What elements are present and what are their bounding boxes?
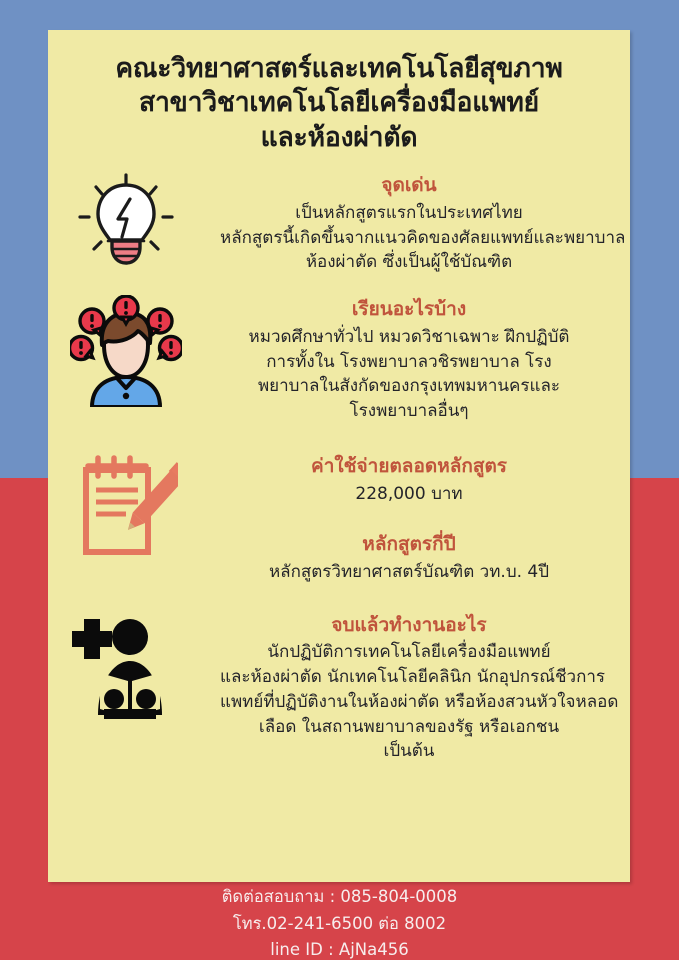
section-career-body: นักปฏิบัติการเทคโนโลยีเครื่องมือแพทย์ แล…	[220, 640, 598, 764]
section-study: เรียนอะไรบ้าง หมวดศึกษาทั่วไป หมวดวิชาเฉ…	[48, 295, 630, 424]
body-line: หลักสูตรวิทยาศาสตร์บัณฑิต วท.บ. 4ปี	[220, 560, 598, 585]
body-line: ห้องผ่าตัด ซึ่งเป็นผู้ใช้บัณฑิต	[220, 250, 598, 275]
body-line: นักปฏิบัติการเทคโนโลยีเครื่องมือแพทย์	[220, 640, 598, 665]
body-line: เลือด ในสถานพยาบาลของรัฐ หรือเอกชน	[220, 715, 598, 740]
info-card: คณะวิทยาศาสตร์และเทคโนโลยีสุขภาพ สาขาวิช…	[48, 30, 630, 882]
section-highlight-text: จุดเด่น เป็นหลักสูตรแรกในประเทศไทย หลักส…	[220, 171, 598, 275]
section-cost-text: ค่าใช้จ่ายตลอดหลักสูตร 228,000 บาท	[220, 452, 598, 506]
body-line: และห้องผ่าตัด นักเทคโนโลยีคลินิก นักอุปก…	[220, 665, 598, 690]
section-career-heading: จบแล้วทำงานอะไร	[220, 611, 598, 640]
section-years-text: หลักสูตรกี่ปี หลักสูตรวิทยาศาสตร์บัณฑิต …	[220, 530, 598, 584]
section-cost-heading: ค่าใช้จ่ายตลอดหลักสูตร	[220, 452, 598, 481]
section-career-text: จบแล้วทำงานอะไร นักปฏิบัติการเทคโนโลยีเค…	[220, 611, 598, 765]
body-line: การทั้งใน โรงพยาบาลวชิรพยาบาล โรง	[220, 350, 598, 375]
person-reading-medical-icon	[66, 611, 186, 723]
section-years-body: หลักสูตรวิทยาศาสตร์บัณฑิต วท.บ. 4ปี	[220, 560, 598, 585]
body-line: หมวดศึกษาทั่วไป หมวดวิชาเฉพาะ ฝึกปฏิบัติ	[220, 325, 598, 350]
contact-office-line: โทร.02-241-6500 ต่อ 8002	[0, 911, 679, 938]
body-line: หลักสูตรนี้เกิดขึ้นจากแนวคิดของศัลยแพทย์…	[220, 226, 598, 251]
page-title: คณะวิทยาศาสตร์และเทคโนโลยีสุขภาพ สาขาวิช…	[48, 30, 630, 159]
body-line: แพทย์ที่ปฏิบัติงานในห้องผ่าตัด หรือห้องส…	[220, 690, 598, 715]
section-highlight: จุดเด่น เป็นหลักสูตรแรกในประเทศไทย หลักส…	[48, 171, 630, 275]
body-line: โรงพยาบาลอื่นๆ	[220, 399, 598, 424]
body-line: พยาบาลในสังกัดของกรุงเทพมหานครและ	[220, 374, 598, 399]
section-cost-body: 228,000 บาท	[220, 482, 598, 507]
poster-root: คณะวิทยาศาสตร์และเทคโนโลยีสุขภาพ สาขาวิช…	[0, 0, 679, 960]
section-years: หลักสูตรกี่ปี หลักสูตรวิทยาศาสตร์บัณฑิต …	[48, 530, 630, 584]
title-line-3: และห้องผ่าตัด	[74, 121, 604, 155]
body-line: 228,000 บาท	[220, 482, 598, 507]
contact-footer: ติดต่อสอบถาม : 085-804-0008 โทร.02-241-6…	[0, 884, 679, 960]
section-study-text: เรียนอะไรบ้าง หมวดศึกษาทั่วไป หมวดวิชาเฉ…	[220, 295, 598, 424]
title-line-2: สาขาวิชาเทคโนโลยีเครื่องมือแพทย์	[74, 86, 604, 120]
section-study-body: หมวดศึกษาทั่วไป หมวดวิชาเฉพาะ ฝึกปฏิบัติ…	[220, 325, 598, 424]
person-questions-icon	[66, 295, 186, 407]
contact-line-id: line ID : AjNa456	[0, 937, 679, 960]
section-highlight-body: เป็นหลักสูตรแรกในประเทศไทย หลักสูตรนี้เก…	[220, 201, 598, 275]
section-highlight-heading: จุดเด่น	[220, 171, 598, 200]
body-line: เป็นต้น	[220, 739, 598, 764]
body-line: เป็นหลักสูตรแรกในประเทศไทย	[220, 201, 598, 226]
section-years-heading: หลักสูตรกี่ปี	[220, 530, 598, 559]
section-career: จบแล้วทำงานอะไร นักปฏิบัติการเทคโนโลยีเค…	[48, 611, 630, 765]
title-line-1: คณะวิทยาศาสตร์และเทคโนโลยีสุขภาพ	[74, 52, 604, 86]
lightbulb-icon	[66, 171, 186, 275]
contact-phone-line: ติดต่อสอบถาม : 085-804-0008	[0, 884, 679, 911]
section-cost: ค่าใช้จ่ายตลอดหลักสูตร 228,000 บาท	[48, 452, 630, 506]
section-study-heading: เรียนอะไรบ้าง	[220, 295, 598, 324]
